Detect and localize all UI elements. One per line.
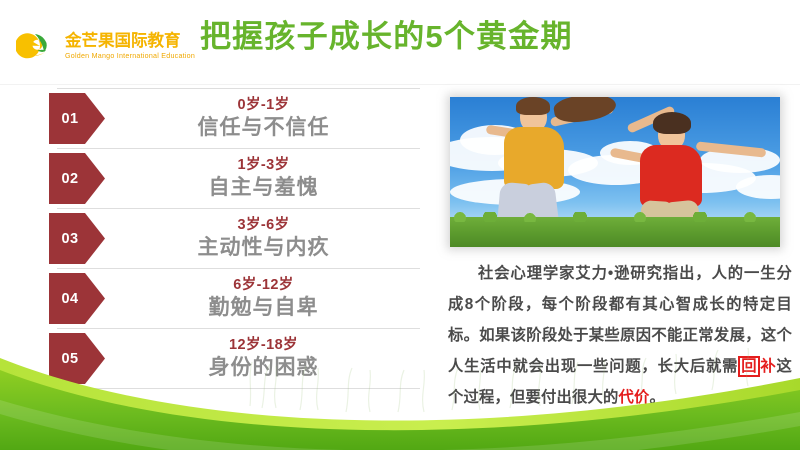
chevron-badge-icon: 01	[49, 93, 105, 144]
slide-canvas: 金芒果国际教育 Golden Mango International Educa…	[0, 0, 800, 450]
brand-logo: 金芒果国际教育 Golden Mango International Educa…	[16, 22, 192, 70]
two-children-running-photo	[450, 97, 780, 247]
stage-title: 身份的困惑	[209, 355, 319, 380]
logo-chinese-name: 金芒果国际教育	[65, 32, 195, 51]
logo-english-name: Golden Mango International Education	[65, 51, 195, 61]
stage-title: 信任与不信任	[198, 115, 330, 140]
row-divider	[57, 388, 420, 389]
list-item[interactable]: 05 12岁-18岁 身份的困惑	[45, 328, 420, 388]
stage-age-range: 1岁-3岁	[238, 156, 290, 174]
list-item[interactable]: 02 1岁-3岁 自主与羞愧	[45, 148, 420, 208]
stage-title: 勤勉与自卑	[209, 295, 319, 320]
paragraph-part-4: 。	[649, 389, 665, 406]
list-item[interactable]: 03 3岁-6岁 主动性与内疚	[45, 208, 420, 268]
stage-list: 01 0岁-1岁 信任与不信任 02 1岁-3岁 自主与羞愧	[45, 88, 420, 388]
row-text-group: 6岁-12岁 勤勉与自卑	[107, 268, 420, 328]
header-divider	[0, 84, 800, 85]
stage-age-range: 3岁-6岁	[238, 216, 290, 234]
highlight-red-word-2: 代价	[618, 389, 649, 406]
row-text-group: 3岁-6岁 主动性与内疚	[107, 208, 420, 268]
stage-title: 主动性与内疚	[198, 235, 330, 260]
chevron-badge-icon: 05	[49, 333, 105, 384]
row-text-group: 12岁-18岁 身份的困惑	[107, 328, 420, 388]
stage-age-range: 12岁-18岁	[229, 336, 298, 354]
stage-age-range: 6岁-12岁	[233, 276, 293, 294]
description-paragraph: 社会心理学家艾力•逊研究指出，人的一生分成8个阶段，每个阶段都有其心智成长的特定…	[448, 258, 792, 413]
chevron-badge-icon: 04	[49, 273, 105, 324]
chevron-badge-icon: 02	[49, 153, 105, 204]
slide-header: 金芒果国际教育 Golden Mango International Educa…	[0, 0, 800, 86]
highlight-red-char-1: 补	[760, 358, 776, 375]
highlight-boxed-char: 回	[738, 356, 760, 377]
golden-mango-logo-icon	[16, 25, 62, 67]
list-item[interactable]: 01 0岁-1岁 信任与不信任	[45, 88, 420, 148]
list-item[interactable]: 04 6岁-12岁 勤勉与自卑	[45, 268, 420, 328]
stage-age-range: 0岁-1岁	[238, 96, 290, 114]
grass-field	[450, 217, 780, 247]
page-title: 把握孩子成长的5个黄金期	[200, 14, 573, 60]
chevron-badge-icon: 03	[49, 213, 105, 264]
stage-title: 自主与羞愧	[209, 175, 319, 200]
row-text-group: 1岁-3岁 自主与羞愧	[107, 148, 420, 208]
row-text-group: 0岁-1岁 信任与不信任	[107, 88, 420, 148]
